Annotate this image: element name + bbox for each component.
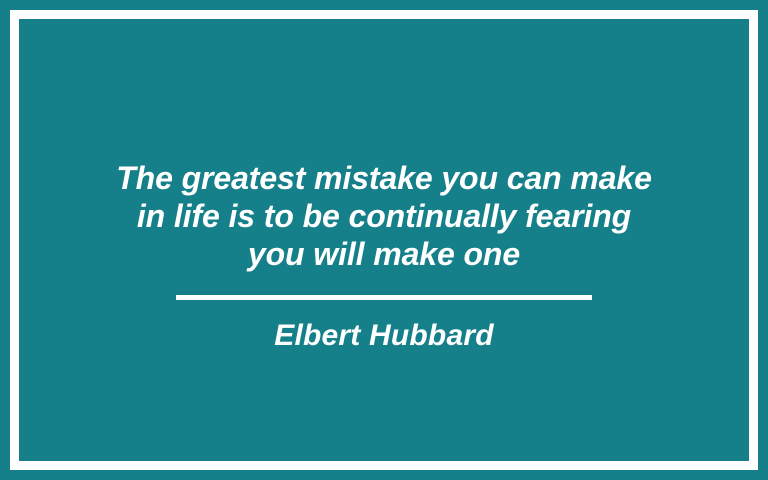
quote-text: The greatest mistake you can make in lif… [116, 159, 652, 273]
quote-card: The greatest mistake you can make in lif… [0, 0, 768, 480]
quote-card-content: The greatest mistake you can make in lif… [0, 0, 768, 480]
quote-block: The greatest mistake you can make in lif… [116, 159, 652, 353]
quote-author: Elbert Hubbard [274, 319, 493, 353]
quote-divider [176, 295, 592, 300]
